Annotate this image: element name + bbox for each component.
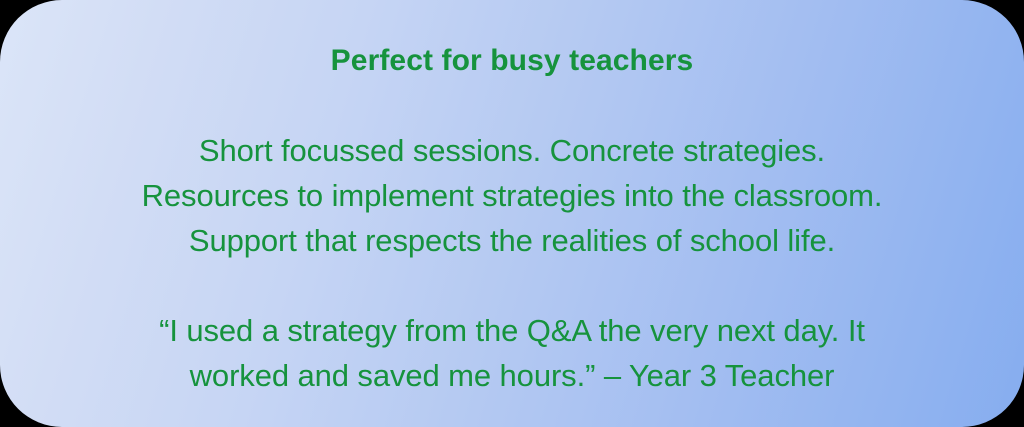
page-title: Perfect for busy teachers: [0, 38, 1024, 83]
headline-body-spacer: [0, 83, 1024, 128]
body-quote-spacer: [0, 263, 1024, 308]
promo-card: Perfect for busy teachers Short focussed…: [0, 0, 1024, 427]
value-proposition-line-3: Support that respects the realities of s…: [0, 218, 1024, 263]
value-proposition-line-2: Resources to implement strategies into t…: [0, 173, 1024, 218]
testimonial-line-1: “I used a strategy from the Q&A the very…: [0, 308, 1024, 353]
promo-card-content: Perfect for busy teachers Short focussed…: [0, 0, 1024, 398]
testimonial-quote: “I used a strategy from the Q&A the very…: [0, 308, 1024, 398]
value-proposition-line-1: Short focussed sessions. Concrete strate…: [0, 128, 1024, 173]
value-proposition-block: Short focussed sessions. Concrete strate…: [0, 128, 1024, 263]
testimonial-line-2: worked and saved me hours.” – Year 3 Tea…: [0, 353, 1024, 398]
